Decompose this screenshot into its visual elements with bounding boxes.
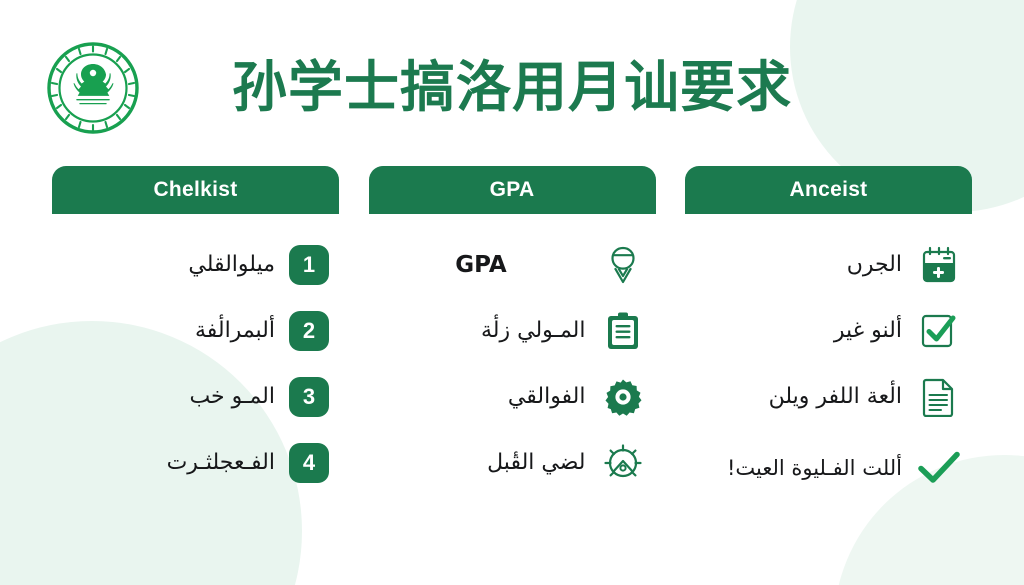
list-item[interactable]: لضي القٔبل xyxy=(369,430,656,496)
list-item[interactable]: 4 الفـعجلثـرت xyxy=(52,430,339,496)
infographic-canvas: 孙学士搞洛用月讪要求 Chelkist 1 ميلوالقلي 2 ألبمرا… xyxy=(0,0,1024,585)
university-seal-logo xyxy=(47,42,139,134)
clipboard-icon xyxy=(600,308,646,354)
list-item-label: ألنو غير xyxy=(685,317,916,345)
list-item[interactable]: الفوالقي xyxy=(369,364,656,430)
calendar-plus-icon xyxy=(916,242,962,288)
step-number-badge: 4 xyxy=(289,443,329,483)
column-header-gpa: GPA xyxy=(369,166,656,214)
list-item-label: المـو خب xyxy=(52,383,289,411)
list-item-label: الجرں xyxy=(685,251,916,279)
page-title: 孙学士搞洛用月讪要求 xyxy=(232,50,832,124)
list-item[interactable]: GPA xyxy=(369,232,656,298)
list-item-label: أللت الفـليوة العيت! xyxy=(685,455,916,481)
checkmark-icon xyxy=(916,445,962,491)
step-number-badge: 1 xyxy=(289,245,329,285)
column-anceist: Anceist xyxy=(685,166,972,506)
column-chelkist: Chelkist 1 ميلوالقلي 2 ألبمرالٔفة 3 المـ… xyxy=(52,166,339,506)
list-item-label: ميلوالقلي xyxy=(52,251,289,279)
column-header-label: Anceist xyxy=(790,178,868,202)
step-number-badge: 2 xyxy=(289,311,329,351)
list-item-label: الفوالقي xyxy=(369,383,600,411)
column-gpa: GPA GPA xyxy=(369,166,656,506)
list-item-label: الٔعة اللفر ويلن xyxy=(685,383,916,411)
checkbox-check-icon xyxy=(916,308,962,354)
compass-target-icon xyxy=(600,440,646,486)
list-item-label: الفـعجلثـرت xyxy=(52,449,289,477)
list-item[interactable]: 1 ميلوالقلي xyxy=(52,232,339,298)
column-body-chelkist: 1 ميلوالقلي 2 ألبمرالٔفة 3 المـو خب 4 ال… xyxy=(52,214,339,496)
gear-icon xyxy=(600,374,646,420)
list-item-label: ألبمرالٔفة xyxy=(52,317,289,345)
list-item[interactable]: الجرں xyxy=(685,232,972,298)
column-body-gpa: GPA xyxy=(369,214,656,496)
column-body-anceist: الجرں ألنو غير xyxy=(685,214,972,506)
header: 孙学士搞洛用月讪要求 xyxy=(0,36,1024,142)
column-header-label: GPA xyxy=(490,178,535,202)
column-header-anceist: Anceist xyxy=(685,166,972,214)
list-item[interactable]: 2 ألبمرالٔفة xyxy=(52,298,339,364)
step-number-badge: 3 xyxy=(289,377,329,417)
list-item-label: لضي القٔبل xyxy=(369,449,600,477)
list-item[interactable]: أللت الفـليوة العيت! xyxy=(685,430,972,506)
list-item[interactable]: ألنو غير xyxy=(685,298,972,364)
columns-container: Chelkist 1 ميلوالقلي 2 ألبمرالٔفة 3 المـ… xyxy=(0,166,1024,506)
list-item[interactable]: المـولي زلٔة xyxy=(369,298,656,364)
list-item-label: المـولي زلٔة xyxy=(369,317,600,345)
graduate-person-icon xyxy=(600,242,646,288)
column-header-label: Chelkist xyxy=(153,178,237,202)
column-header-chelkist: Chelkist xyxy=(52,166,339,214)
list-item[interactable]: 3 المـو خب xyxy=(52,364,339,430)
document-lines-icon xyxy=(916,374,962,420)
list-item[interactable]: الٔعة اللفر ويلن xyxy=(685,364,972,430)
list-item-label: GPA xyxy=(369,251,600,279)
